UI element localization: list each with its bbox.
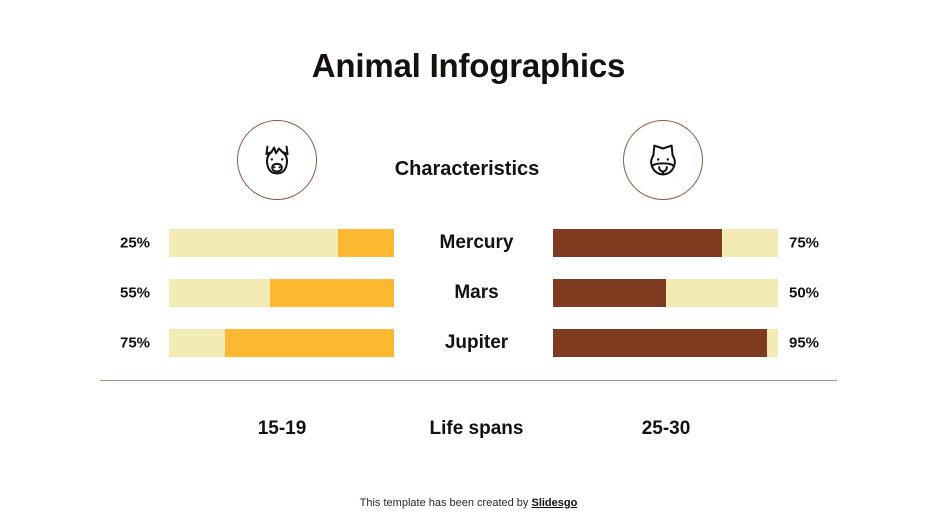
left-bar-fill <box>270 279 394 307</box>
infographic-slide: Animal Infographics <box>0 0 937 527</box>
left-bar-fill <box>225 329 394 357</box>
table-row: 55% Mars 50% <box>0 272 937 313</box>
horse-head-icon <box>254 137 300 183</box>
left-animal-badge <box>237 120 317 200</box>
left-bar-fill <box>338 229 394 257</box>
left-bar-track <box>169 229 394 257</box>
right-percent-label: 75% <box>789 234 839 251</box>
page-title: Animal Infographics <box>0 47 937 85</box>
right-bar-track <box>553 279 778 307</box>
right-bar-fill <box>553 329 767 357</box>
row-label: Mercury <box>404 232 549 254</box>
life-span-left-value: 15-19 <box>169 418 395 440</box>
life-spans-label: Life spans <box>404 418 549 440</box>
right-bar-fill <box>553 229 722 257</box>
right-percent-label: 50% <box>789 284 839 301</box>
fox-head-icon <box>640 137 686 183</box>
right-bar-fill <box>553 279 666 307</box>
slidesgo-link[interactable]: Slidesgo <box>531 497 577 509</box>
characteristics-header: Characteristics <box>349 158 585 181</box>
row-label: Mars <box>404 282 549 304</box>
table-row: 75% Jupiter 95% <box>0 322 937 363</box>
template-credit: This template has been created by Slides… <box>0 497 937 509</box>
comparison-rows: 25% Mercury 75% 55% Mars 50% 75% <box>0 222 937 372</box>
left-percent-label: 55% <box>120 284 164 301</box>
life-span-right-value: 25-30 <box>553 418 779 440</box>
right-bar-track <box>553 229 778 257</box>
right-percent-label: 95% <box>789 334 839 351</box>
left-percent-label: 25% <box>120 234 164 251</box>
life-spans-row: 15-19 Life spans 25-30 <box>0 418 937 448</box>
left-bar-track <box>169 329 394 357</box>
left-bar-track <box>169 279 394 307</box>
right-animal-badge <box>623 120 703 200</box>
left-percent-label: 75% <box>120 334 164 351</box>
row-label: Jupiter <box>404 332 549 354</box>
section-divider <box>100 380 837 381</box>
right-bar-track <box>553 329 778 357</box>
table-row: 25% Mercury 75% <box>0 222 937 263</box>
credit-prefix: This template has been created by <box>360 497 532 509</box>
